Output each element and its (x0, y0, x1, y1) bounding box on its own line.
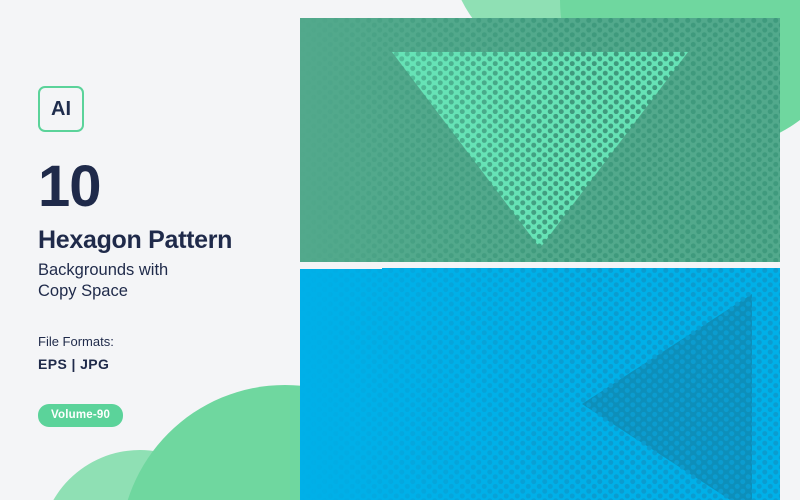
ai-badge-label: AI (51, 98, 71, 121)
halftone-dot-overlay-green (300, 18, 780, 262)
page-subtitle-line1: Backgrounds with (38, 260, 288, 281)
info-panel: AI 10 Hexagon Pattern Backgrounds with C… (38, 86, 288, 427)
preview-green-halftone (300, 18, 780, 262)
panel-gap-divider (300, 262, 382, 269)
volume-badge: Volume-90 (38, 404, 123, 427)
file-formats-label: File Formats: (38, 334, 288, 349)
adobe-illustrator-badge-icon: AI (38, 86, 84, 132)
product-preview-card: AI 10 Hexagon Pattern Backgrounds with C… (0, 0, 800, 500)
preview-blue-halftone (300, 268, 780, 500)
item-count: 10 (38, 158, 288, 216)
halftone-dot-overlay-blue (300, 268, 780, 500)
page-subtitle-line2: Copy Space (38, 281, 288, 302)
file-formats-value: EPS | JPG (38, 356, 288, 372)
decorative-blob-bottom-light (40, 450, 240, 500)
page-title: Hexagon Pattern (38, 226, 288, 254)
